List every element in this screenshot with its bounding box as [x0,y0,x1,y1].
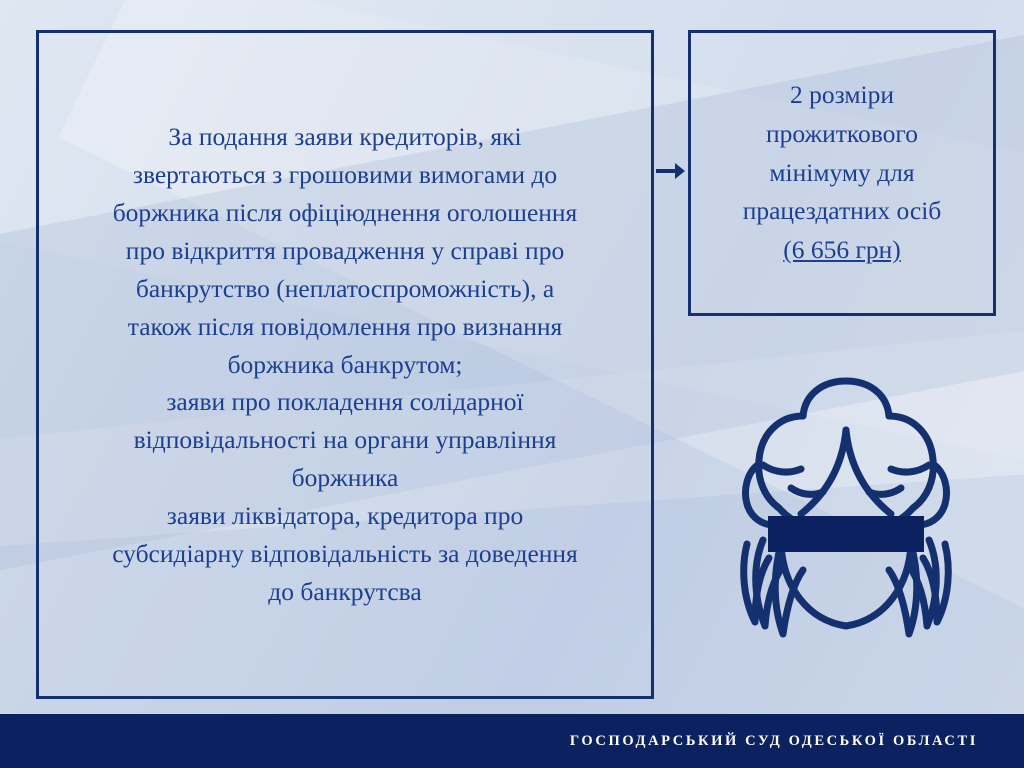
side-highlight-text: 2 розміри прожиткового мінімуму для прац… [691,76,993,270]
side-text-line: працездатних осіб [697,192,987,231]
main-text-line: відповідальності на органи управління [45,421,645,459]
main-text-line: заяви про покладення солідарної [45,383,645,421]
main-text-line: боржника [45,459,645,497]
main-text-line: боржника після офіціюднення оголошення [45,194,645,232]
side-amount-value: (6 656 грн) [697,231,987,270]
main-content-box: За подання заяви кредиторів, які звертаю… [36,30,654,699]
footer-organization-title: ГОСПОДАРСЬКИЙ СУД ОДЕСЬКОЇ ОБЛАСТІ [570,733,1024,750]
side-text-line: прожиткового [697,115,987,154]
main-text-line: до банкрутсва [45,573,645,611]
main-text-line: заяви ліквідатора, кредитора про [45,497,645,535]
slide-canvas: За подання заяви кредиторів, які звертаю… [0,0,1024,768]
judicial-wig-icon [735,368,957,640]
main-text-line: боржника банкрутом; [45,346,645,384]
main-text-line: також після повідомлення про визнання [45,308,645,346]
arrow-right-icon [656,160,686,182]
main-text-line: банкрутство (неплатоспроможність), а [45,270,645,308]
main-text-line: субсидіарну відповідальність за доведенн… [45,535,645,573]
main-text-line: звертаються з грошовими вимогами до [45,156,645,194]
side-highlight-box: 2 розміри прожиткового мінімуму для прац… [688,30,996,316]
footer-bar: ГОСПОДАРСЬКИЙ СУД ОДЕСЬКОЇ ОБЛАСТІ [0,714,1024,768]
side-text-line: 2 розміри [697,76,987,115]
side-text-line: мінімуму для [697,154,987,193]
main-text-line: про відкриття провадження у справі про [45,232,645,270]
main-text-line: За подання заяви кредиторів, які [45,118,645,156]
main-content-text: За подання заяви кредиторів, які звертаю… [39,118,651,612]
